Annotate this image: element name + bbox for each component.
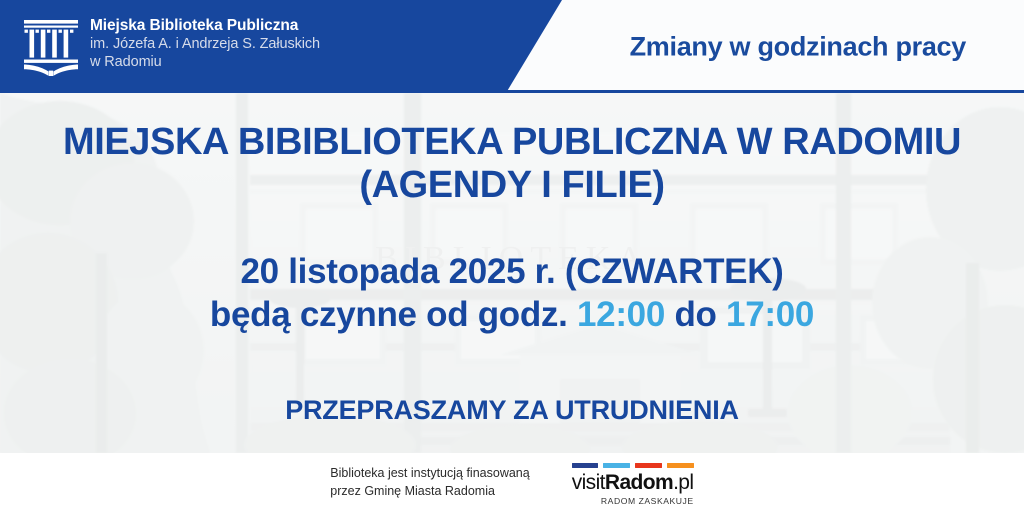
hours-line: będą czynne od godz. 12:00 do 17:00	[0, 294, 1024, 337]
main-title-line1: MIEJSKA BIBIBLIOTEKA PUBLICZNA W RADOMIU	[0, 121, 1024, 164]
hours-prefix-text: będą czynne od godz.	[210, 295, 577, 334]
logo-title-line3: w Radomiu	[90, 54, 420, 72]
header-headline: Zmiany w godzinach pracy	[630, 31, 966, 62]
visitradom-bar-orange	[667, 463, 694, 468]
header-bar: Miejska Biblioteka Publiczna im. Józefa …	[0, 0, 1024, 93]
logo-text-block: Miejska Biblioteka Publiczna im. Józefa …	[90, 17, 420, 71]
poster-content: MIEJSKA BIBIBLIOTEKA PUBLICZNA W RADOMIU…	[0, 93, 1024, 453]
main-title-line2: (AGENDY I FILIE)	[0, 164, 1024, 207]
financing-line2: przez Gminę Miasta Radomia	[330, 483, 529, 501]
header-bottom-rule	[0, 90, 1024, 93]
visitradom-logo[interactable]: visitRadom.pl RADOM ZASKAKUJE	[572, 460, 694, 506]
main-title-block: MIEJSKA BIBIBLIOTEKA PUBLICZNA W RADOMIU…	[0, 121, 1024, 206]
visitradom-word-tld: .pl	[673, 471, 693, 494]
library-column-book-logo-icon	[20, 17, 82, 77]
footer-bar: Biblioteka jest instytucją finasowaną pr…	[0, 453, 1024, 512]
visitradom-wordmark: visitRadom.pl	[572, 472, 694, 493]
hours-to-value: 17:00	[726, 295, 814, 334]
visitradom-tagline: RADOM ZASKAKUJE	[572, 496, 694, 506]
logo-title-line2: im. Józefa A. i Andrzeja S. Załuskich	[90, 36, 420, 54]
visitradom-color-bars	[572, 463, 694, 468]
date-line: 20 listopada 2025 r. (CZWARTEK)	[0, 251, 1024, 294]
visitradom-bar-red	[635, 463, 662, 468]
financing-line1: Biblioteka jest instytucją finasowaną	[330, 465, 529, 483]
visitradom-word-visit: visit	[572, 471, 605, 494]
logo-title-line1: Miejska Biblioteka Publiczna	[90, 17, 420, 36]
hours-joiner-text: do	[665, 295, 726, 334]
date-hours-block: 20 listopada 2025 r. (CZWARTEK) będą czy…	[0, 251, 1024, 336]
visitradom-word-radom: Radom	[605, 471, 673, 494]
financing-statement: Biblioteka jest instytucją finasowaną pr…	[330, 465, 529, 501]
main-stage: BIBLIOTEKA MIEJSKA BIBIBLIOTEKA PUBLICZN…	[0, 93, 1024, 453]
visitradom-bar-navy	[572, 463, 599, 468]
poster-canvas: Miejska Biblioteka Publiczna im. Józefa …	[0, 0, 1024, 512]
visitradom-bar-sky	[603, 463, 630, 468]
hours-from-value: 12:00	[577, 295, 665, 334]
apology-text: PRZEPRASZAMY ZA UTRUDNIENIA	[0, 395, 1024, 426]
